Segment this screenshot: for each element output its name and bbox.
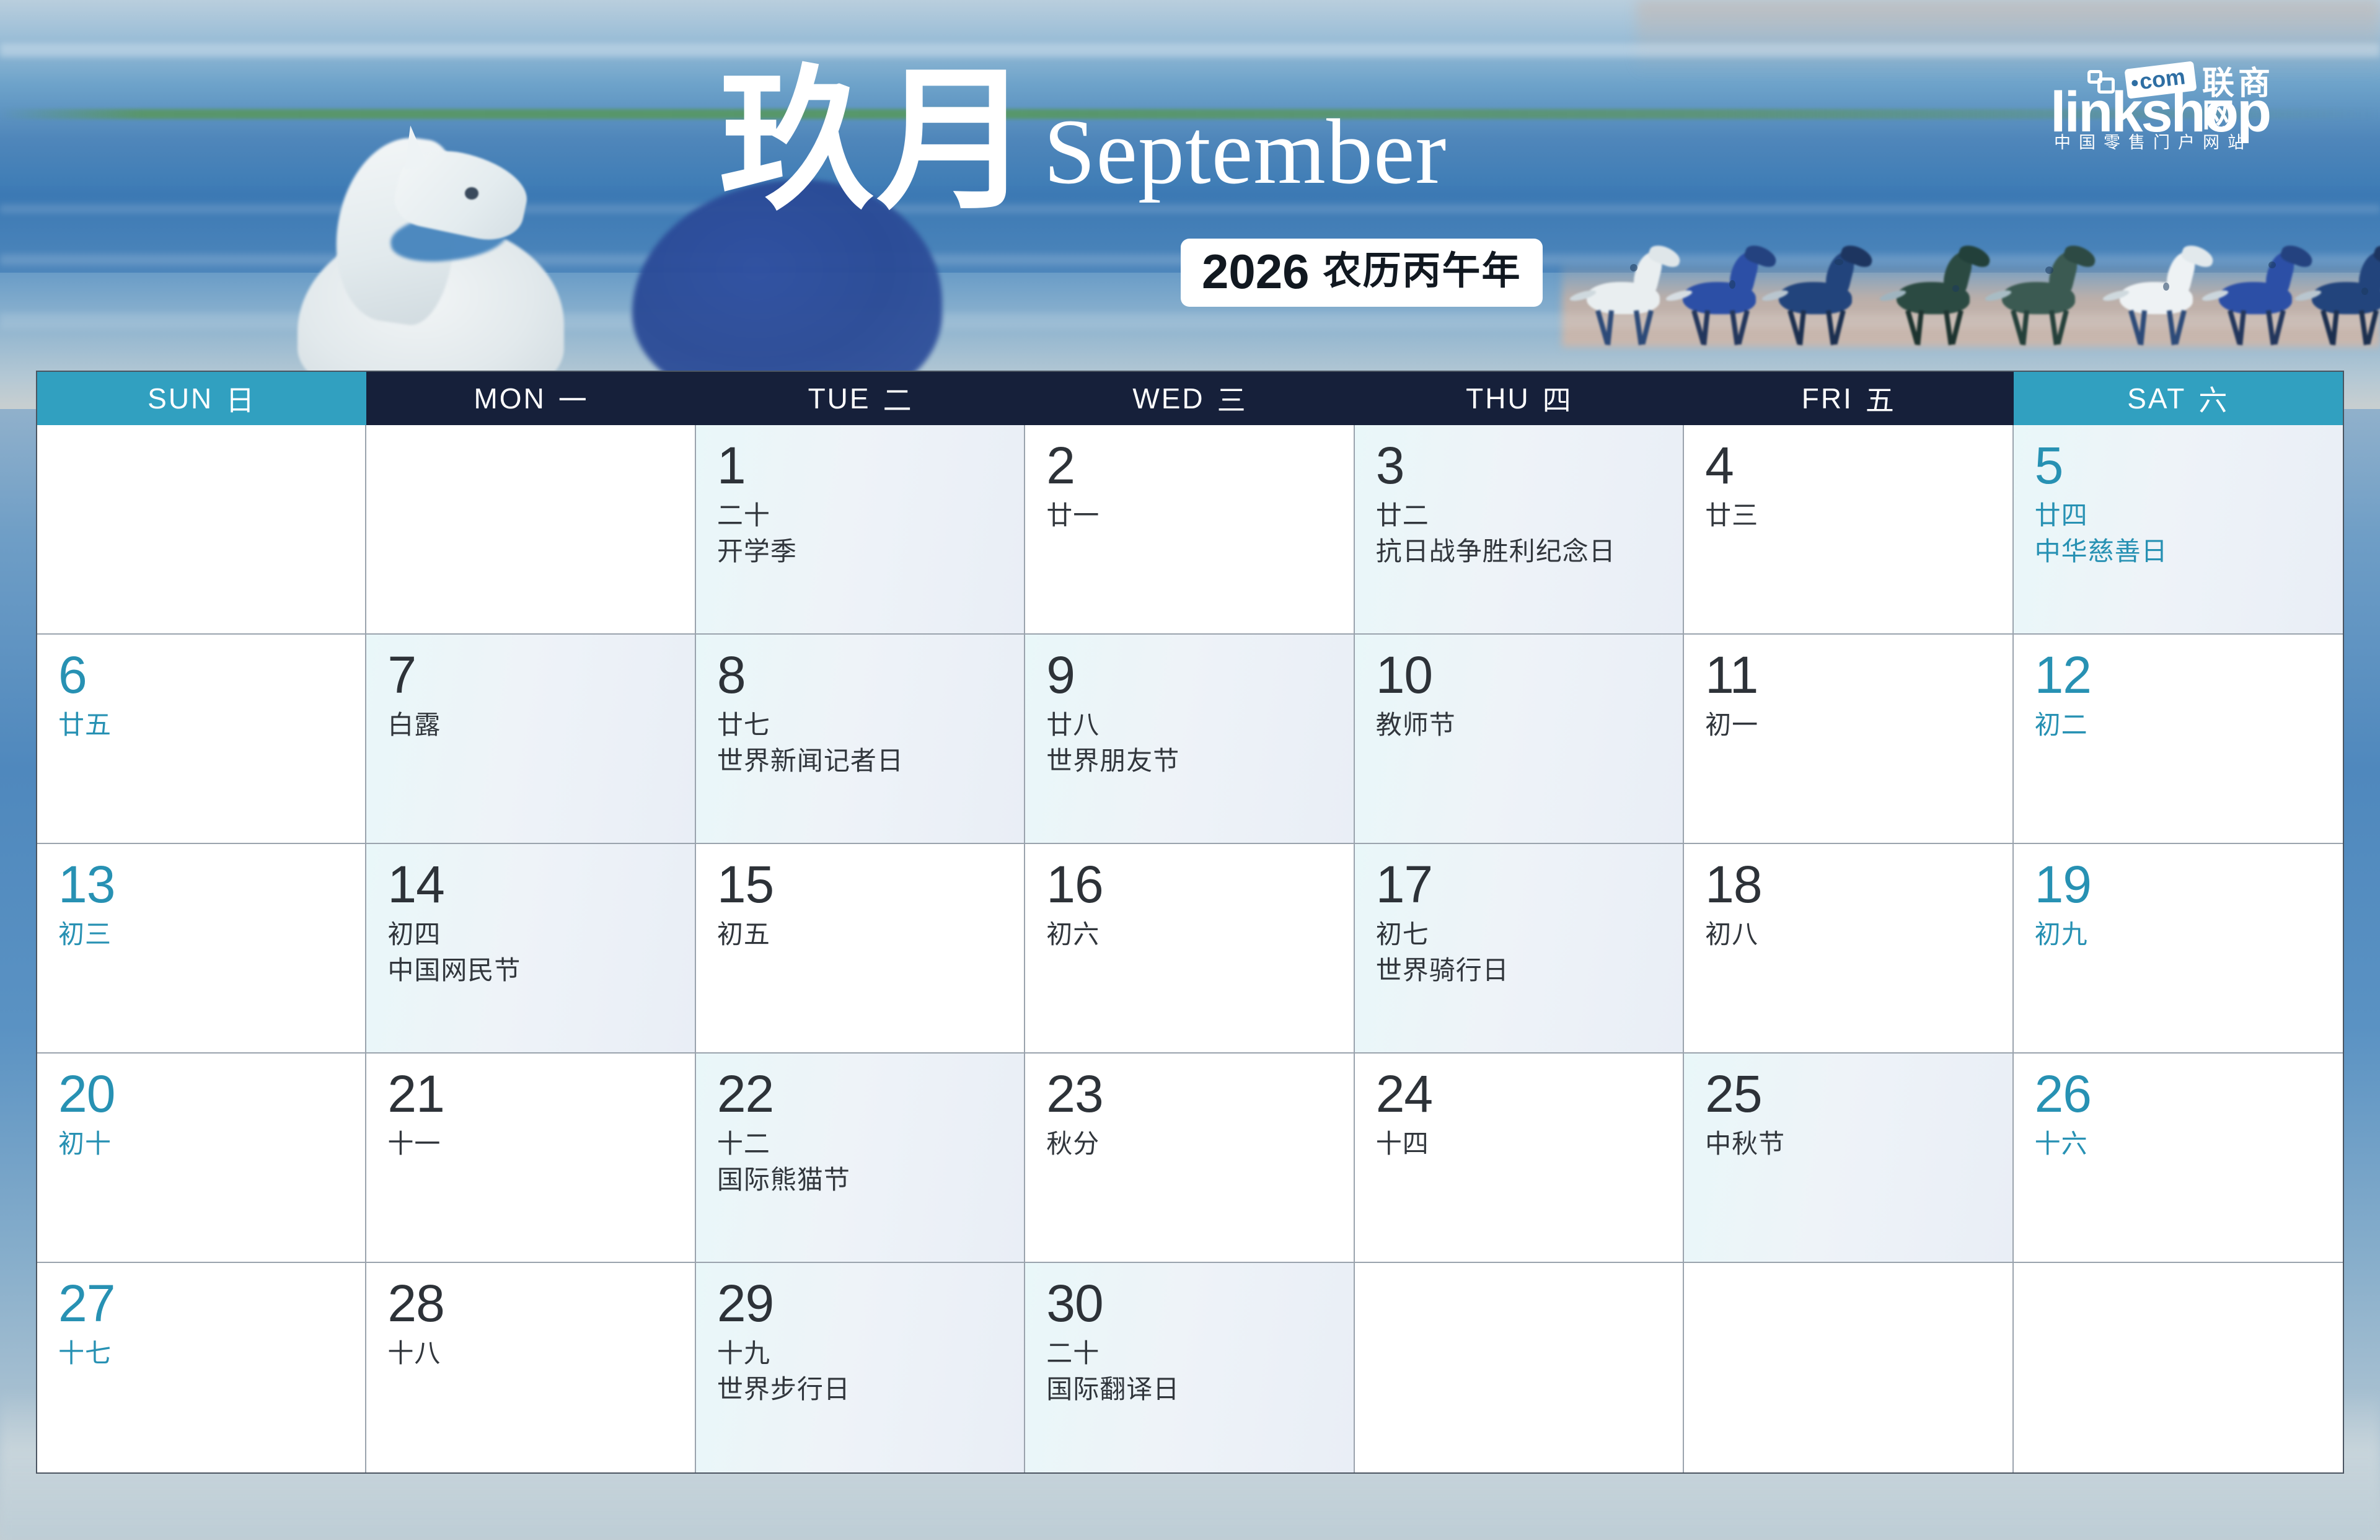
lunar-date-label: 秋分 bbox=[1046, 1128, 1353, 1161]
lunar-date-label: 初六 bbox=[1046, 918, 1353, 951]
lunar-date-label: 中秋节 bbox=[1705, 1128, 2012, 1161]
lunar-date-label: 白露 bbox=[387, 709, 694, 742]
day-number: 27 bbox=[58, 1279, 365, 1329]
day-cell-21[interactable]: 21十一 bbox=[366, 1054, 695, 1263]
day-number: 10 bbox=[1376, 651, 1683, 700]
day-number: 6 bbox=[58, 651, 365, 700]
day-number: 12 bbox=[2035, 651, 2343, 700]
day-cell-13[interactable]: 13初三 bbox=[37, 844, 366, 1054]
lunar-date-label: 初十 bbox=[58, 1128, 365, 1161]
weekday-header-wed: WED三 bbox=[1025, 372, 1354, 425]
lunar-date-label: 廿二 bbox=[1376, 499, 1683, 532]
day-number: 1 bbox=[717, 441, 1024, 491]
lunar-date-label: 教师节 bbox=[1376, 709, 1683, 742]
weekday-label-cn: 一 bbox=[558, 378, 589, 419]
day-number: 14 bbox=[387, 860, 694, 910]
weekday-label-en: FRI bbox=[1802, 382, 1853, 415]
weekday-label-en: THU bbox=[1466, 382, 1530, 415]
day-number: 11 bbox=[1705, 651, 2012, 700]
day-cell-23[interactable]: 23秋分 bbox=[1025, 1054, 1354, 1263]
day-number: 24 bbox=[1376, 1070, 1683, 1119]
day-cell-29[interactable]: 29十九世界步行日 bbox=[696, 1263, 1025, 1472]
weekday-header-fri: FRI五 bbox=[1684, 372, 2013, 425]
festival-label: 世界骑行日 bbox=[1376, 954, 1683, 987]
day-number: 30 bbox=[1046, 1279, 1353, 1329]
day-cell-6[interactable]: 6廿五 bbox=[37, 635, 366, 844]
lunar-date-label: 二十 bbox=[1046, 1337, 1353, 1370]
lunar-date-label: 廿五 bbox=[58, 709, 365, 742]
day-cell-17[interactable]: 17初七世界骑行日 bbox=[1355, 844, 1684, 1054]
lunar-date-label: 初三 bbox=[58, 918, 365, 951]
day-cell-3[interactable]: 3廿二抗日战争胜利纪念日 bbox=[1355, 425, 1684, 635]
day-cell-7[interactable]: 7白露 bbox=[366, 635, 695, 844]
lunar-date-label: 廿三 bbox=[1705, 499, 2012, 532]
lunar-date-label: 廿四 bbox=[2035, 499, 2343, 532]
lunar-date-label: 初四 bbox=[387, 918, 694, 951]
day-cell-15[interactable]: 15初五 bbox=[696, 844, 1025, 1054]
day-number: 13 bbox=[58, 860, 365, 910]
day-cell-14[interactable]: 14初四中国网民节 bbox=[366, 844, 695, 1054]
day-number: 5 bbox=[2035, 441, 2343, 491]
linkshop-logo[interactable]: com 联商网 linkshop 中国零售门户网站 bbox=[2050, 65, 2298, 153]
weekday-label-cn: 二 bbox=[883, 378, 914, 419]
day-number: 20 bbox=[58, 1070, 365, 1119]
day-cell-11[interactable]: 11初一 bbox=[1684, 635, 2013, 844]
weekday-label-cn: 四 bbox=[1543, 378, 1573, 419]
day-cell-24[interactable]: 24十四 bbox=[1355, 1054, 1684, 1263]
day-number: 9 bbox=[1046, 651, 1353, 700]
day-cell-9[interactable]: 9廿八世界朋友节 bbox=[1025, 635, 1354, 844]
day-cell-22[interactable]: 22十二国际熊猫节 bbox=[696, 1054, 1025, 1263]
lunar-date-label: 十二 bbox=[717, 1128, 1024, 1161]
year-lunar-badge: 2026 农历丙午年 bbox=[1181, 239, 1543, 307]
day-number: 18 bbox=[1705, 860, 2012, 910]
lunar-date-label: 十八 bbox=[387, 1337, 694, 1370]
lunar-date-label: 初二 bbox=[2035, 709, 2343, 742]
weekday-label-en: WED bbox=[1132, 382, 1204, 415]
day-number: 3 bbox=[1376, 441, 1683, 491]
day-cell-25[interactable]: 25中秋节 bbox=[1684, 1054, 2013, 1263]
day-cell-16[interactable]: 16初六 bbox=[1025, 844, 1354, 1054]
day-cell-8[interactable]: 8廿七世界新闻记者日 bbox=[696, 635, 1025, 844]
logo-wordmark: linkshop bbox=[2050, 84, 2270, 141]
lunar-date-label: 初五 bbox=[717, 918, 1024, 951]
day-number: 23 bbox=[1046, 1070, 1353, 1119]
lunar-year-label: 农历丙午年 bbox=[1323, 252, 1522, 291]
day-cell-19[interactable]: 19初九 bbox=[2014, 844, 2343, 1054]
lunar-date-label: 廿八 bbox=[1046, 709, 1353, 742]
festival-label: 世界朋友节 bbox=[1046, 745, 1353, 778]
day-cell-4[interactable]: 4廿三 bbox=[1684, 425, 2013, 635]
weekday-label-cn: 五 bbox=[1866, 378, 1896, 419]
festival-label: 国际翻译日 bbox=[1046, 1373, 1353, 1406]
festival-label: 抗日战争胜利纪念日 bbox=[1376, 535, 1683, 568]
lunar-date-label: 廿七 bbox=[717, 709, 1024, 742]
festival-label: 国际熊猫节 bbox=[717, 1164, 1024, 1197]
month-title: 玖月 September bbox=[719, 67, 1447, 214]
festival-label: 世界新闻记者日 bbox=[717, 745, 1024, 778]
lunar-date-label: 初七 bbox=[1376, 918, 1683, 951]
day-number: 15 bbox=[717, 860, 1024, 910]
day-cell-27[interactable]: 27十七 bbox=[37, 1263, 366, 1472]
festival-label: 世界步行日 bbox=[717, 1373, 1024, 1406]
year-label: 2026 bbox=[1202, 247, 1310, 296]
day-cell-1[interactable]: 1二十开学季 bbox=[696, 425, 1025, 635]
lunar-date-label: 初八 bbox=[1705, 918, 2012, 951]
day-number: 25 bbox=[1705, 1070, 2012, 1119]
lunar-date-label: 廿一 bbox=[1046, 499, 1353, 532]
art-streak bbox=[0, 43, 2380, 57]
day-cell-18[interactable]: 18初八 bbox=[1684, 844, 2013, 1054]
weekday-header-row: SUN日MON一TUE二WED三THU四FRI五SAT六 bbox=[37, 372, 2343, 425]
day-cell-2[interactable]: 2廿一 bbox=[1025, 425, 1354, 635]
day-cell-30[interactable]: 30二十国际翻译日 bbox=[1025, 1263, 1354, 1472]
day-number: 22 bbox=[717, 1070, 1024, 1119]
lunar-date-label: 十四 bbox=[1376, 1128, 1683, 1161]
calendar-grid: SUN日MON一TUE二WED三THU四FRI五SAT六 1二十开学季2廿一3廿… bbox=[36, 371, 2344, 1474]
day-cell-empty bbox=[37, 425, 366, 635]
day-number: 4 bbox=[1705, 441, 2012, 491]
lunar-date-label: 十一 bbox=[387, 1128, 694, 1161]
day-number: 29 bbox=[717, 1279, 1024, 1329]
weekday-header-sun: SUN日 bbox=[37, 372, 366, 425]
lunar-date-label: 初一 bbox=[1705, 709, 2012, 742]
day-number: 8 bbox=[717, 651, 1024, 700]
lunar-date-label: 十六 bbox=[2035, 1128, 2343, 1161]
calendar-page: 玖月 September 2026 农历丙午年 com 联商网 linkshop… bbox=[0, 0, 2380, 1540]
calendar-weeks: 1二十开学季2廿一3廿二抗日战争胜利纪念日4廿三5廿四中华慈善日6廿五7白露8廿… bbox=[37, 425, 2343, 1472]
day-cell-12[interactable]: 12初二 bbox=[2014, 635, 2343, 844]
running-horses-frieze bbox=[1574, 223, 2380, 353]
day-cell-10[interactable]: 10教师节 bbox=[1355, 635, 1684, 844]
day-number: 2 bbox=[1046, 441, 1353, 491]
day-cell-empty bbox=[366, 425, 695, 635]
month-title-english: September bbox=[1044, 105, 1447, 214]
lunar-date-label: 十九 bbox=[717, 1337, 1024, 1370]
day-number: 28 bbox=[387, 1279, 694, 1329]
weekday-label-en: SAT bbox=[2127, 382, 2186, 415]
day-number: 19 bbox=[2035, 860, 2343, 910]
lunar-date-label: 十七 bbox=[58, 1337, 365, 1370]
festival-label: 开学季 bbox=[717, 535, 1024, 568]
festival-label: 中国网民节 bbox=[387, 954, 694, 987]
day-cell-26[interactable]: 26十六 bbox=[2014, 1054, 2343, 1263]
day-cell-20[interactable]: 20初十 bbox=[37, 1054, 366, 1263]
weekday-header-tue: TUE二 bbox=[696, 372, 1025, 425]
day-cell-empty bbox=[1355, 1263, 1684, 1472]
festival-label: 中华慈善日 bbox=[2035, 535, 2343, 568]
art-sand-top-right bbox=[1636, 0, 2380, 74]
month-title-chinese: 玖月 bbox=[719, 67, 1034, 214]
day-cell-28[interactable]: 28十八 bbox=[366, 1263, 695, 1472]
weekday-label-cn: 六 bbox=[2198, 378, 2229, 419]
weekday-label-en: MON bbox=[474, 382, 545, 415]
weekday-label-cn: 日 bbox=[226, 378, 256, 419]
lunar-date-label: 初九 bbox=[2035, 918, 2343, 951]
weekday-label-en: TUE bbox=[808, 382, 871, 415]
weekday-header-sat: SAT六 bbox=[2014, 372, 2343, 425]
white-horse-illustration bbox=[205, 81, 676, 390]
weekday-header-mon: MON一 bbox=[366, 372, 695, 425]
weekday-label-en: SUN bbox=[148, 382, 213, 415]
day-number: 17 bbox=[1376, 860, 1683, 910]
weekday-header-thu: THU四 bbox=[1355, 372, 1684, 425]
day-cell-empty bbox=[1684, 1263, 2013, 1472]
weekday-label-cn: 三 bbox=[1217, 378, 1248, 419]
day-cell-5[interactable]: 5廿四中华慈善日 bbox=[2014, 425, 2343, 635]
day-number: 26 bbox=[2035, 1070, 2343, 1119]
day-number: 16 bbox=[1046, 860, 1353, 910]
lunar-date-label: 二十 bbox=[717, 499, 1024, 532]
logo-tagline: 中国零售门户网站 bbox=[2054, 134, 2252, 151]
day-number: 7 bbox=[387, 651, 694, 700]
day-number: 21 bbox=[387, 1070, 694, 1119]
day-cell-empty bbox=[2014, 1263, 2343, 1472]
